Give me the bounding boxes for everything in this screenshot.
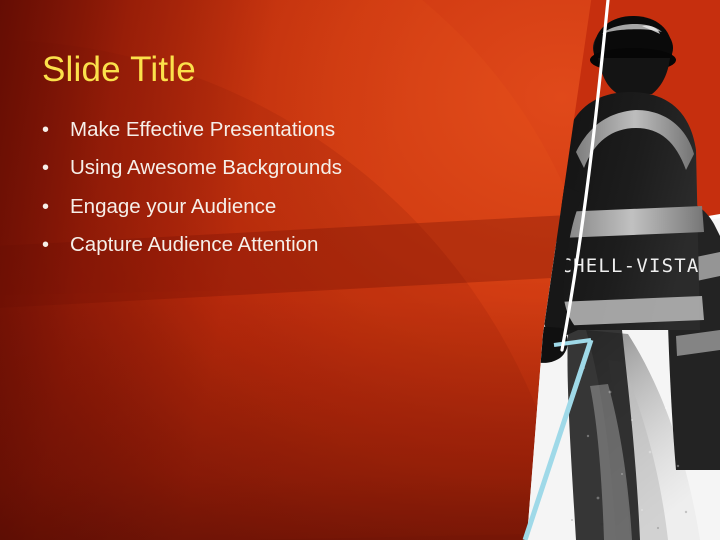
list-item[interactable]: • Make Effective Presentations	[38, 116, 468, 143]
jacket-label-text: CHELL-VISTA	[560, 255, 699, 277]
list-item-label: Capture Audience Attention	[70, 231, 318, 258]
bullet-marker-icon: •	[38, 155, 70, 181]
list-item-label: Engage your Audience	[70, 193, 276, 220]
bullet-marker-icon: •	[38, 232, 70, 258]
bullet-marker-icon: •	[38, 194, 70, 220]
presentation-slide: CHELL-VISTA	[0, 0, 720, 540]
list-item[interactable]: • Engage your Audience	[38, 193, 468, 220]
list-item[interactable]: • Using Awesome Backgrounds	[38, 154, 468, 181]
list-item[interactable]: • Capture Audience Attention	[38, 231, 468, 258]
slide-title[interactable]: Slide Title	[42, 50, 196, 90]
slide-bullet-list: • Make Effective Presentations • Using A…	[38, 116, 468, 270]
list-item-label: Make Effective Presentations	[70, 116, 335, 143]
bullet-marker-icon: •	[38, 117, 70, 143]
list-item-label: Using Awesome Backgrounds	[70, 154, 342, 181]
